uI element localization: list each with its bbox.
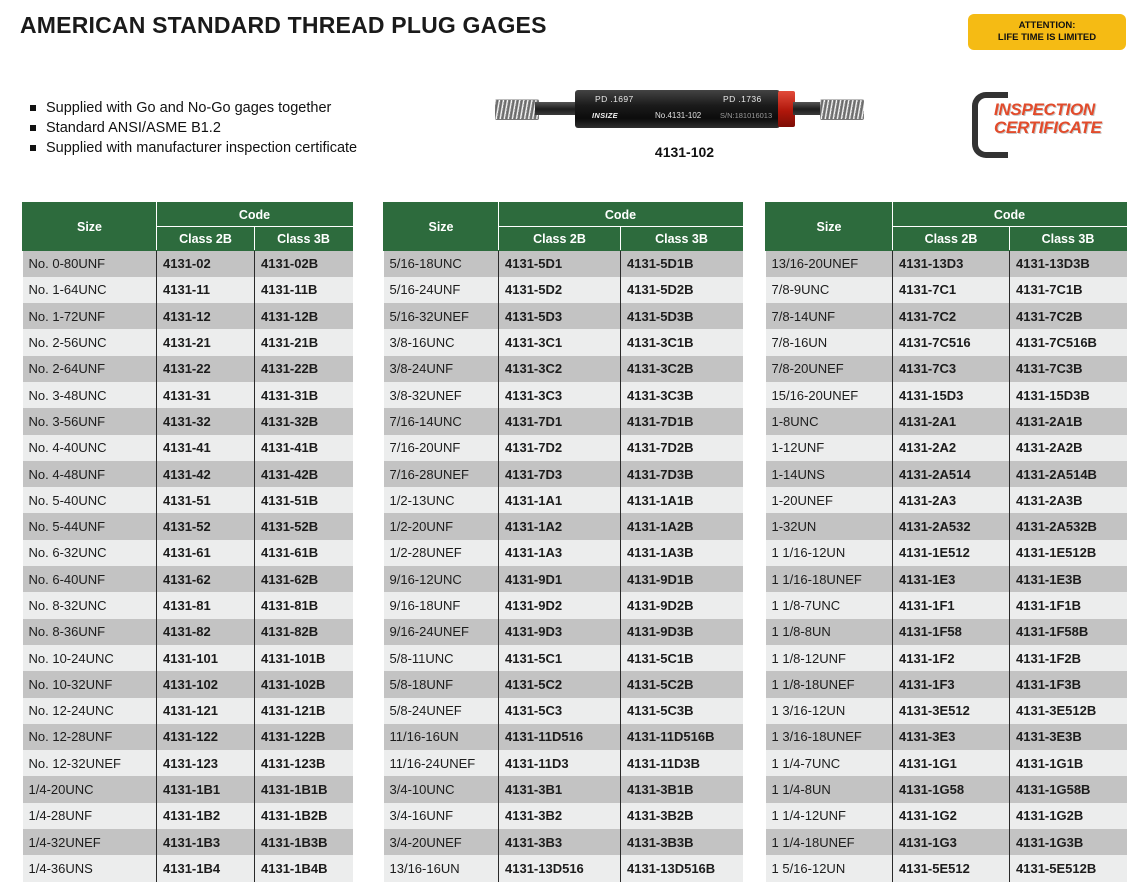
cell-class-3b: 4131-7C1B — [1010, 277, 1127, 303]
cell-class-2b: 4131-12 — [157, 303, 255, 329]
table-row: 1/2-20UNF4131-1A24131-1A2B — [384, 513, 743, 539]
cell-class-2b: 4131-7C2 — [893, 303, 1010, 329]
table-row: No. 5-40UNC4131-514131-51B — [23, 487, 353, 513]
cell-class-2b: 4131-52 — [157, 513, 255, 539]
cell-class-2b: 4131-21 — [157, 329, 255, 355]
table-row: No. 6-32UNC4131-614131-61B — [23, 540, 353, 566]
cell-class-2b: 4131-2A532 — [893, 513, 1010, 539]
cell-size: No. 12-32UNEF — [23, 750, 157, 776]
shaft-left — [535, 102, 577, 115]
cell-class-2b: 4131-7C516 — [893, 329, 1010, 355]
cell-class-3b: 4131-7D1B — [621, 408, 743, 434]
cell-class-3b: 4131-5C1B — [621, 645, 743, 671]
cell-size: 1 3/16-18UNEF — [766, 724, 893, 750]
table-row: 5/8-18UNF4131-5C24131-5C2B — [384, 671, 743, 697]
table-row: 3/4-16UNF4131-3B24131-3B2B — [384, 803, 743, 829]
table-body: 13/16-20UNEF4131-13D34131-13D3B7/8-9UNC4… — [766, 251, 1127, 882]
table-row: 1/4-36UNS4131-1B44131-1B4B — [23, 855, 353, 881]
cell-size: 3/8-24UNF — [384, 356, 499, 382]
cell-class-2b: 4131-1B4 — [157, 855, 255, 881]
cell-class-3b: 4131-52B — [255, 513, 353, 539]
table-row: 1 1/16-18UNEF4131-1E34131-1E3B — [766, 566, 1127, 592]
cell-class-2b: 4131-3B1 — [499, 776, 621, 802]
code-table-1: Size Code Class 2B Class 3B No. 0-80UNF4… — [22, 202, 353, 882]
table-body: 5/16-18UNC4131-5D14131-5D1B5/16-24UNF413… — [384, 251, 743, 882]
cell-class-3b: 4131-1G1B — [1010, 750, 1127, 776]
table-row: 7/8-20UNEF4131-7C34131-7C3B — [766, 356, 1127, 382]
table-row: 1-12UNF4131-2A24131-2A2B — [766, 435, 1127, 461]
table-row: 9/16-12UNC4131-9D14131-9D1B — [384, 566, 743, 592]
cell-class-2b: 4131-3C2 — [499, 356, 621, 382]
table-row: 1 3/16-18UNEF4131-3E34131-3E3B — [766, 724, 1127, 750]
table-row: No. 3-56UNF4131-324131-32B — [23, 408, 353, 434]
table-row: 1 5/16-12UN4131-5E5124131-5E512B — [766, 855, 1127, 881]
cell-class-2b: 4131-123 — [157, 750, 255, 776]
table-row: 5/8-11UNC4131-5C14131-5C1B — [384, 645, 743, 671]
table-row: No. 3-48UNC4131-314131-31B — [23, 382, 353, 408]
cell-class-2b: 4131-1G1 — [893, 750, 1010, 776]
cell-class-2b: 4131-02 — [157, 251, 255, 277]
cell-class-2b: 4131-2A2 — [893, 435, 1010, 461]
table-body: No. 0-80UNF4131-024131-02BNo. 1-64UNC413… — [23, 251, 353, 882]
cell-class-3b: 4131-11D516B — [621, 724, 743, 750]
table-row: 5/16-18UNC4131-5D14131-5D1B — [384, 251, 743, 277]
feature-text: Supplied with Go and No-Go gages togethe… — [46, 100, 331, 116]
cell-class-3b: 4131-62B — [255, 566, 353, 592]
cell-size: 5/16-18UNC — [384, 251, 499, 277]
cell-size: 9/16-24UNEF — [384, 619, 499, 645]
cell-size: No. 5-44UNF — [23, 513, 157, 539]
cell-class-3b: 4131-13D3B — [1010, 251, 1127, 277]
cell-class-3b: 4131-7C2B — [1010, 303, 1127, 329]
certificate-line2: CERTIFICATE — [994, 118, 1102, 137]
cell-size: 7/8-9UNC — [766, 277, 893, 303]
header-size: Size — [23, 203, 157, 251]
cell-size: 1/4-20UNC — [23, 776, 157, 802]
table-header: Size Code Class 2B Class 3B — [384, 203, 743, 251]
cell-class-2b: 4131-61 — [157, 540, 255, 566]
cell-size: 1/2-28UNEF — [384, 540, 499, 566]
cell-class-2b: 4131-1B1 — [157, 776, 255, 802]
table-row: No. 8-32UNC4131-814131-81B — [23, 592, 353, 618]
cell-size: 7/16-28UNEF — [384, 461, 499, 487]
cell-class-3b: 4131-02B — [255, 251, 353, 277]
cell-class-3b: 4131-51B — [255, 487, 353, 513]
cell-class-3b: 4131-11D3B — [621, 750, 743, 776]
code-table-2: Size Code Class 2B Class 3B 5/16-18UNC41… — [383, 202, 743, 882]
cell-class-2b: 4131-11D3 — [499, 750, 621, 776]
table-row: No. 1-64UNC4131-114131-11B — [23, 277, 353, 303]
table-row: No. 12-28UNF4131-1224131-122B — [23, 724, 353, 750]
cell-class-2b: 4131-31 — [157, 382, 255, 408]
code-table-3: Size Code Class 2B Class 3B 13/16-20UNEF… — [765, 202, 1127, 882]
table-row: 7/16-14UNC4131-7D14131-7D1B — [384, 408, 743, 434]
cell-class-3b: 4131-32B — [255, 408, 353, 434]
cell-class-3b: 4131-3C1B — [621, 329, 743, 355]
cell-class-3b: 4131-9D2B — [621, 592, 743, 618]
cell-class-2b: 4131-9D1 — [499, 566, 621, 592]
cell-class-2b: 4131-81 — [157, 592, 255, 618]
certificate-line1: INSPECTION — [994, 100, 1095, 119]
cell-class-2b: 4131-1G2 — [893, 803, 1010, 829]
cell-size: 3/4-10UNC — [384, 776, 499, 802]
attention-badge: ATTENTION: LIFE TIME IS LIMITED — [968, 14, 1126, 50]
cell-class-2b: 4131-11D516 — [499, 724, 621, 750]
cell-class-3b: 4131-1G3B — [1010, 829, 1127, 855]
gage-pd-left: PD .1697 — [595, 94, 634, 104]
cell-class-3b: 4131-41B — [255, 435, 353, 461]
table-row: No. 8-36UNF4131-824131-82B — [23, 619, 353, 645]
cell-class-2b: 4131-1A2 — [499, 513, 621, 539]
cell-class-3b: 4131-2A1B — [1010, 408, 1127, 434]
cell-size: No. 2-56UNC — [23, 329, 157, 355]
header-size: Size — [384, 203, 499, 251]
cell-size: 5/8-11UNC — [384, 645, 499, 671]
table-row: No. 2-64UNF4131-224131-22B — [23, 356, 353, 382]
table-row: 5/16-24UNF4131-5D24131-5D2B — [384, 277, 743, 303]
cell-size: 9/16-12UNC — [384, 566, 499, 592]
table-row: 1 3/16-12UN4131-3E5124131-3E512B — [766, 698, 1127, 724]
cell-class-3b: 4131-2A514B — [1010, 461, 1127, 487]
table-row: 1 1/8-18UNEF4131-1F34131-1F3B — [766, 671, 1127, 697]
cell-class-3b: 4131-81B — [255, 592, 353, 618]
cell-size: 1-20UNEF — [766, 487, 893, 513]
table-header: Size Code Class 2B Class 3B — [766, 203, 1127, 251]
cell-class-2b: 4131-42 — [157, 461, 255, 487]
cell-class-3b: 4131-2A532B — [1010, 513, 1127, 539]
cell-class-3b: 4131-1B3B — [255, 829, 353, 855]
table-row: 11/16-24UNEF4131-11D34131-11D3B — [384, 750, 743, 776]
cell-class-3b: 4131-122B — [255, 724, 353, 750]
table-row: 3/4-10UNC4131-3B14131-3B1B — [384, 776, 743, 802]
cell-size: 7/8-20UNEF — [766, 356, 893, 382]
header-class-3b: Class 3B — [255, 227, 353, 251]
cell-class-2b: 4131-1A1 — [499, 487, 621, 513]
table-row: No. 4-40UNC4131-414131-41B — [23, 435, 353, 461]
gage-serial: S/N:181016013 — [720, 111, 772, 120]
cell-class-3b: 4131-21B — [255, 329, 353, 355]
cell-class-2b: 4131-122 — [157, 724, 255, 750]
cell-class-3b: 4131-1F3B — [1010, 671, 1127, 697]
table-row: 3/8-24UNF4131-3C24131-3C2B — [384, 356, 743, 382]
cell-class-3b: 4131-101B — [255, 645, 353, 671]
cell-class-2b: 4131-32 — [157, 408, 255, 434]
cell-class-2b: 4131-7C3 — [893, 356, 1010, 382]
cell-size: 9/16-18UNF — [384, 592, 499, 618]
cell-class-2b: 4131-5E512 — [893, 855, 1010, 881]
cell-size: No. 3-48UNC — [23, 382, 157, 408]
cell-class-3b: 4131-7C516B — [1010, 329, 1127, 355]
square-bullet-icon — [30, 145, 36, 151]
cell-size: 15/16-20UNEF — [766, 382, 893, 408]
cell-class-3b: 4131-3E512B — [1010, 698, 1127, 724]
table-row: 3/8-32UNEF4131-3C34131-3C3B — [384, 382, 743, 408]
cell-class-2b: 4131-41 — [157, 435, 255, 461]
header-class-3b: Class 3B — [1010, 227, 1127, 251]
cell-class-3b: 4131-1F1B — [1010, 592, 1127, 618]
cell-size: 3/4-20UNEF — [384, 829, 499, 855]
table-row: 5/16-32UNEF4131-5D34131-5D3B — [384, 303, 743, 329]
table-row: No. 0-80UNF4131-024131-02B — [23, 251, 353, 277]
cell-class-3b: 4131-5D2B — [621, 277, 743, 303]
cell-class-2b: 4131-22 — [157, 356, 255, 382]
inspection-certificate-logo: INSPECTION CERTIFICATE — [972, 92, 1124, 150]
thread-left-icon — [495, 99, 539, 120]
cell-class-3b: 4131-7D3B — [621, 461, 743, 487]
certificate-logo-text: INSPECTION CERTIFICATE — [994, 101, 1102, 137]
cell-class-3b: 4131-13D516B — [621, 855, 743, 881]
table-row: 1/4-20UNC4131-1B14131-1B1B — [23, 776, 353, 802]
cell-class-2b: 4131-3C1 — [499, 329, 621, 355]
cell-class-3b: 4131-82B — [255, 619, 353, 645]
cell-class-3b: 4131-5E512B — [1010, 855, 1127, 881]
cell-class-2b: 4131-1G58 — [893, 776, 1010, 802]
cell-class-3b: 4131-121B — [255, 698, 353, 724]
cell-size: No. 8-32UNC — [23, 592, 157, 618]
cell-size: 1 1/8-8UN — [766, 619, 893, 645]
cell-class-2b: 4131-5D1 — [499, 251, 621, 277]
cell-class-2b: 4131-7D3 — [499, 461, 621, 487]
cell-class-2b: 4131-7C1 — [893, 277, 1010, 303]
cell-size: No. 3-56UNF — [23, 408, 157, 434]
table-row: No. 5-44UNF4131-524131-52B — [23, 513, 353, 539]
cell-class-2b: 4131-1B2 — [157, 803, 255, 829]
cell-size: 1/4-36UNS — [23, 855, 157, 881]
table-row: 1/4-28UNF4131-1B24131-1B2B — [23, 803, 353, 829]
list-item: Standard ANSI/ASME B1.2 — [30, 118, 357, 138]
table-row: 9/16-18UNF4131-9D24131-9D2B — [384, 592, 743, 618]
cell-class-2b: 4131-1F2 — [893, 645, 1010, 671]
gage-number: No.4131-102 — [655, 111, 701, 120]
cell-class-3b: 4131-12B — [255, 303, 353, 329]
table-row: 15/16-20UNEF4131-15D34131-15D3B — [766, 382, 1127, 408]
cell-size: 1/4-32UNEF — [23, 829, 157, 855]
cell-size: No. 4-48UNF — [23, 461, 157, 487]
attention-badge-line2: LIFE TIME IS LIMITED — [998, 32, 1096, 44]
header-class-2b: Class 2B — [499, 227, 621, 251]
cell-size: No. 10-32UNF — [23, 671, 157, 697]
cell-class-3b: 4131-7C3B — [1010, 356, 1127, 382]
table-row: 1 1/4-8UN4131-1G584131-1G58B — [766, 776, 1127, 802]
cell-class-2b: 4131-9D2 — [499, 592, 621, 618]
cell-class-2b: 4131-15D3 — [893, 382, 1010, 408]
cell-class-2b: 4131-1B3 — [157, 829, 255, 855]
table-row: 1 1/16-12UN4131-1E5124131-1E512B — [766, 540, 1127, 566]
cell-size: 1-32UN — [766, 513, 893, 539]
cell-class-2b: 4131-3E512 — [893, 698, 1010, 724]
square-bullet-icon — [30, 125, 36, 131]
table-row: 3/8-16UNC4131-3C14131-3C1B — [384, 329, 743, 355]
table-row: 3/4-20UNEF4131-3B34131-3B3B — [384, 829, 743, 855]
table-row: 1-8UNC4131-2A14131-2A1B — [766, 408, 1127, 434]
cell-size: No. 1-64UNC — [23, 277, 157, 303]
cell-class-3b: 4131-2A3B — [1010, 487, 1127, 513]
cell-size: 13/16-16UN — [384, 855, 499, 881]
cell-size: 1 1/4-12UNF — [766, 803, 893, 829]
cell-size: 1 1/4-8UN — [766, 776, 893, 802]
table-row: No. 10-32UNF4131-1024131-102B — [23, 671, 353, 697]
cell-class-2b: 4131-102 — [157, 671, 255, 697]
cell-size: No. 2-64UNF — [23, 356, 157, 382]
cell-class-3b: 4131-2A2B — [1010, 435, 1127, 461]
cell-class-2b: 4131-1E3 — [893, 566, 1010, 592]
cell-size: 11/16-24UNEF — [384, 750, 499, 776]
cell-size: 5/16-24UNF — [384, 277, 499, 303]
list-item: Supplied with Go and No-Go gages togethe… — [30, 98, 357, 118]
cell-class-3b: 4131-1B2B — [255, 803, 353, 829]
cell-class-3b: 4131-3C3B — [621, 382, 743, 408]
cell-class-3b: 4131-1G2B — [1010, 803, 1127, 829]
cell-class-2b: 4131-121 — [157, 698, 255, 724]
product-caption: 4131-102 — [487, 144, 882, 160]
table-row: 1/2-28UNEF4131-1A34131-1A3B — [384, 540, 743, 566]
cell-class-3b: 4131-5D3B — [621, 303, 743, 329]
cell-size: 3/8-32UNEF — [384, 382, 499, 408]
cell-class-2b: 4131-3B2 — [499, 803, 621, 829]
cell-class-3b: 4131-61B — [255, 540, 353, 566]
cell-size: No. 6-32UNC — [23, 540, 157, 566]
cell-size: 3/8-16UNC — [384, 329, 499, 355]
cell-class-3b: 4131-3B3B — [621, 829, 743, 855]
cell-class-2b: 4131-3C3 — [499, 382, 621, 408]
cell-size: 3/4-16UNF — [384, 803, 499, 829]
cell-class-2b: 4131-1F58 — [893, 619, 1010, 645]
cell-class-2b: 4131-1E512 — [893, 540, 1010, 566]
cell-class-2b: 4131-3B3 — [499, 829, 621, 855]
table-row: 1-14UNS4131-2A5144131-2A514B — [766, 461, 1127, 487]
cell-size: 1-14UNS — [766, 461, 893, 487]
cell-class-3b: 4131-1B4B — [255, 855, 353, 881]
cell-class-2b: 4131-5C2 — [499, 671, 621, 697]
table-row: No. 4-48UNF4131-424131-42B — [23, 461, 353, 487]
cell-size: 5/8-24UNEF — [384, 698, 499, 724]
cell-size: 13/16-20UNEF — [766, 251, 893, 277]
table-row: 1-20UNEF4131-2A34131-2A3B — [766, 487, 1127, 513]
cell-class-3b: 4131-3B2B — [621, 803, 743, 829]
header-class-3b: Class 3B — [621, 227, 743, 251]
cell-class-3b: 4131-11B — [255, 277, 353, 303]
cell-size: 1 1/8-7UNC — [766, 592, 893, 618]
table-row: 1 1/8-12UNF4131-1F24131-1F2B — [766, 645, 1127, 671]
cell-class-2b: 4131-5D2 — [499, 277, 621, 303]
table-row: 1 1/8-8UN4131-1F584131-1F58B — [766, 619, 1127, 645]
cell-size: 1 1/8-18UNEF — [766, 671, 893, 697]
cell-class-3b: 4131-102B — [255, 671, 353, 697]
cell-class-3b: 4131-22B — [255, 356, 353, 382]
cell-class-2b: 4131-82 — [157, 619, 255, 645]
cell-class-3b: 4131-1E3B — [1010, 566, 1127, 592]
cell-size: No. 12-28UNF — [23, 724, 157, 750]
cell-class-3b: 4131-7D2B — [621, 435, 743, 461]
cell-class-2b: 4131-11 — [157, 277, 255, 303]
cell-class-3b: 4131-31B — [255, 382, 353, 408]
cell-class-2b: 4131-7D1 — [499, 408, 621, 434]
cell-size: No. 12-24UNC — [23, 698, 157, 724]
cell-class-2b: 4131-51 — [157, 487, 255, 513]
cell-size: 11/16-16UN — [384, 724, 499, 750]
table-row: 13/16-20UNEF4131-13D34131-13D3B — [766, 251, 1127, 277]
cell-size: 7/16-20UNF — [384, 435, 499, 461]
cell-class-3b: 4131-9D3B — [621, 619, 743, 645]
table-row: No. 1-72UNF4131-124131-12B — [23, 303, 353, 329]
attention-badge-line1: ATTENTION: — [1019, 20, 1076, 32]
table-row: 5/8-24UNEF4131-5C34131-5C3B — [384, 698, 743, 724]
cell-size: No. 10-24UNC — [23, 645, 157, 671]
cell-class-3b: 4131-1A1B — [621, 487, 743, 513]
cell-class-2b: 4131-5C1 — [499, 645, 621, 671]
gage-brand: INSIZE — [592, 111, 618, 120]
cell-class-3b: 4131-1A3B — [621, 540, 743, 566]
cell-size: 1 3/16-12UN — [766, 698, 893, 724]
cell-class-3b: 4131-1F2B — [1010, 645, 1127, 671]
cell-class-2b: 4131-9D3 — [499, 619, 621, 645]
cell-size: 1 1/16-18UNEF — [766, 566, 893, 592]
table-row: 1 1/4-12UNF4131-1G24131-1G2B — [766, 803, 1127, 829]
table-row: 7/8-16UN4131-7C5164131-7C516B — [766, 329, 1127, 355]
cell-size: 5/16-32UNEF — [384, 303, 499, 329]
cell-class-3b: 4131-5C2B — [621, 671, 743, 697]
cell-class-2b: 4131-2A514 — [893, 461, 1010, 487]
cell-class-3b: 4131-1B1B — [255, 776, 353, 802]
table-row: 7/16-28UNEF4131-7D34131-7D3B — [384, 461, 743, 487]
cell-class-2b: 4131-13D3 — [893, 251, 1010, 277]
table-row: 13/16-16UN4131-13D5164131-13D516B — [384, 855, 743, 881]
cell-size: No. 8-36UNF — [23, 619, 157, 645]
cell-size: 1-12UNF — [766, 435, 893, 461]
header-code: Code — [157, 203, 353, 227]
cell-class-3b: 4131-3C2B — [621, 356, 743, 382]
table-row: 1-32UN4131-2A5324131-2A532B — [766, 513, 1127, 539]
cell-class-3b: 4131-1A2B — [621, 513, 743, 539]
table-row: 7/8-9UNC4131-7C14131-7C1B — [766, 277, 1127, 303]
table-row: 9/16-24UNEF4131-9D34131-9D3B — [384, 619, 743, 645]
table-row: No. 6-40UNF4131-624131-62B — [23, 566, 353, 592]
cell-class-3b: 4131-3E3B — [1010, 724, 1127, 750]
cell-class-3b: 4131-3B1B — [621, 776, 743, 802]
cell-size: No. 6-40UNF — [23, 566, 157, 592]
header-class-2b: Class 2B — [157, 227, 255, 251]
cell-class-3b: 4131-5C3B — [621, 698, 743, 724]
cell-class-2b: 4131-7D2 — [499, 435, 621, 461]
table-row: 11/16-16UN4131-11D5164131-11D516B — [384, 724, 743, 750]
cell-class-2b: 4131-1G3 — [893, 829, 1010, 855]
cell-size: 1/4-28UNF — [23, 803, 157, 829]
cell-class-2b: 4131-1F1 — [893, 592, 1010, 618]
cell-size: No. 4-40UNC — [23, 435, 157, 461]
gage-pd-right: PD .1736 — [723, 94, 762, 104]
header-class-2b: Class 2B — [893, 227, 1010, 251]
cell-class-2b: 4131-13D516 — [499, 855, 621, 881]
header-code: Code — [893, 203, 1127, 227]
cell-size: 1 5/16-12UN — [766, 855, 893, 881]
cell-class-2b: 4131-2A1 — [893, 408, 1010, 434]
table-row: 1 1/8-7UNC4131-1F14131-1F1B — [766, 592, 1127, 618]
table-row: No. 12-24UNC4131-1214131-121B — [23, 698, 353, 724]
cell-size: 1 1/4-18UNEF — [766, 829, 893, 855]
cell-class-2b: 4131-5C3 — [499, 698, 621, 724]
cell-class-2b: 4131-1F3 — [893, 671, 1010, 697]
square-bullet-icon — [30, 105, 36, 111]
table-row: No. 10-24UNC4131-1014131-101B — [23, 645, 353, 671]
shaft-right — [793, 102, 823, 115]
page-title: AMERICAN STANDARD THREAD PLUG GAGES — [20, 12, 547, 39]
table-row: 1 1/4-7UNC4131-1G14131-1G1B — [766, 750, 1127, 776]
header-code: Code — [499, 203, 743, 227]
cell-size: 7/8-16UN — [766, 329, 893, 355]
cell-class-2b: 4131-62 — [157, 566, 255, 592]
product-photo: PD .1697 PD .1736 INSIZE No.4131-102 S/N… — [487, 78, 882, 138]
cell-class-2b: 4131-5D3 — [499, 303, 621, 329]
